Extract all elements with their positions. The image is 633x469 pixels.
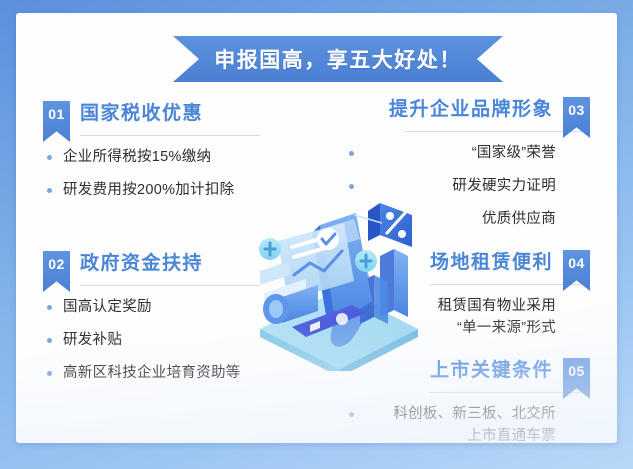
- section-01-header: 01 国家税收优惠: [43, 101, 293, 131]
- section-03-header: 提升企业品牌形象 03: [365, 97, 590, 127]
- section-02-divider: [80, 285, 260, 286]
- section-03-divider: [405, 131, 590, 132]
- illustration-svg: [248, 189, 428, 371]
- list-item: 科创板、新三板、北交所 上市直通车票: [365, 403, 556, 443]
- section-01-title: 国家税收优惠: [80, 101, 203, 127]
- percent-badge-icon: [368, 203, 412, 247]
- coin-icon: [259, 238, 281, 260]
- section-03-title: 提升企业品牌形象: [389, 97, 553, 123]
- section-01-number-badge: 01: [43, 101, 70, 142]
- section-02-title: 政府资金扶持: [80, 251, 203, 277]
- check-circle-icon: [317, 228, 339, 250]
- isometric-finance-tech-illustration: [248, 189, 428, 371]
- infographic-root: 申报国高，享五大好处！ 01 国家税收优惠 企业所得税按15%缴纳 研发费用按2…: [0, 0, 633, 469]
- section-05-title: 上市关键条件: [430, 358, 553, 384]
- coin-icon-secondary: [355, 250, 377, 272]
- title-banner: 申报国高，享五大好处！: [173, 36, 503, 82]
- section-05-bullets: 科创板、新三板、北交所 上市直通车票: [365, 403, 556, 443]
- list-item: “国家级”荣誉: [365, 142, 556, 164]
- banner-title: 申报国高，享五大好处！: [173, 36, 503, 82]
- list-item: 企业所得税按15%缴纳: [43, 146, 293, 168]
- content-panel: 申报国高，享五大好处！ 01 国家税收优惠 企业所得税按15%缴纳 研发费用按2…: [16, 13, 617, 443]
- section-02-number-badge: 02: [43, 251, 70, 292]
- section-01-divider: [80, 135, 260, 136]
- section-04-title: 场地租赁便利: [430, 250, 553, 276]
